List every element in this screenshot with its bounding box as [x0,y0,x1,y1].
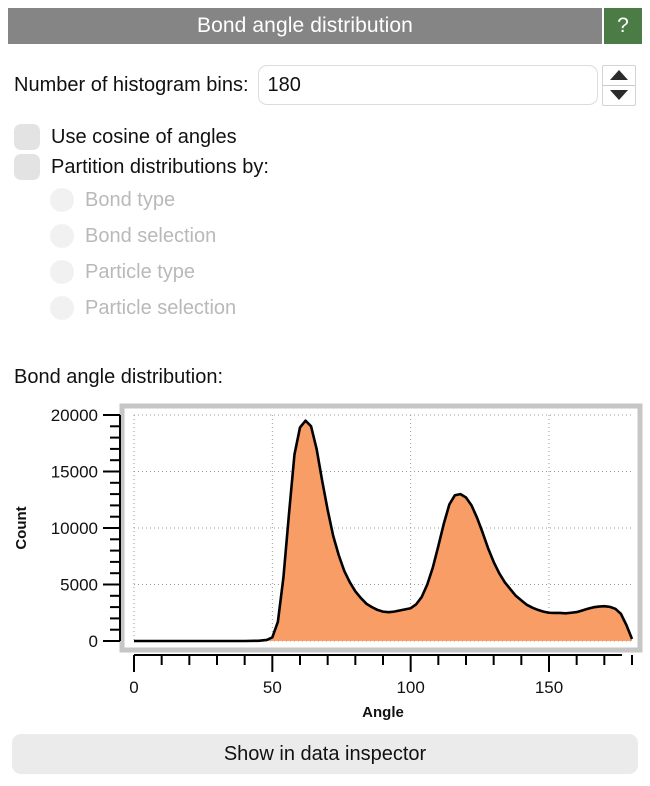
histogram-bins-stepper[interactable] [602,65,636,106]
y-tick-label: 0 [89,632,98,651]
radio-row-particle-type: Particle type [50,254,514,290]
y-tick-label: 15000 [51,463,98,482]
y-axis-label: Count [13,506,30,549]
histogram-bins-row: Number of histogram bins: [14,64,636,106]
checkbox-row-partition[interactable]: Partition distributions by: [14,152,514,182]
radio-bond-selection [50,224,74,248]
stepper-up-button[interactable] [603,66,635,86]
bond-angle-chart-svg: 05000100001500020000Count050100150Angle [0,392,650,722]
checkbox-partition-distributions[interactable] [14,154,40,180]
chart-heading: Bond angle distribution: [14,366,223,389]
x-tick-label: 150 [535,678,563,697]
checkbox-use-cosine[interactable] [14,124,40,150]
page-title: Bond angle distribution [197,14,413,38]
help-button[interactable]: ? [602,8,642,44]
stepper-down-button[interactable] [603,85,635,105]
radio-label-bond-selection: Bond selection [85,225,216,248]
question-mark-icon: ? [617,14,629,38]
x-axis-label: Angle [362,704,404,721]
radio-particle-type [50,260,74,284]
titlebar-main: Bond angle distribution [8,8,602,44]
y-tick-label: 5000 [60,576,98,595]
radio-row-bond-selection: Bond selection [50,218,514,254]
options-group: Use cosine of angles Partition distribut… [14,122,514,326]
bond-angle-distribution-panel: Bond angle distribution ? Number of hist… [0,0,650,786]
histogram-bins-input[interactable] [258,65,598,105]
y-tick-label: 20000 [51,406,98,425]
x-tick-label: 50 [263,678,282,697]
chart-line [134,421,632,641]
radio-bond-type [50,188,74,212]
x-tick-label: 0 [129,678,138,697]
x-tick-label: 100 [396,678,424,697]
triangle-up-icon [610,70,628,80]
partition-radio-group: Bond type Bond selection Particle type P… [50,182,514,326]
chart-area-fill [134,421,632,641]
radio-row-particle-selection: Particle selection [50,290,514,326]
radio-label-bond-type: Bond type [85,189,175,212]
histogram-bins-label: Number of histogram bins: [14,74,249,97]
radio-label-particle-type: Particle type [85,261,195,284]
triangle-down-icon [610,90,628,100]
bond-angle-chart: 05000100001500020000Count050100150Angle [0,392,650,722]
radio-label-particle-selection: Particle selection [85,297,236,320]
radio-particle-selection [50,296,74,320]
window-titlebar: Bond angle distribution ? [8,8,642,44]
show-in-data-inspector-button[interactable]: Show in data inspector [12,734,638,774]
radio-row-bond-type: Bond type [50,182,514,218]
checkbox-label-partition: Partition distributions by: [51,156,269,179]
checkbox-row-use-cosine[interactable]: Use cosine of angles [14,122,514,152]
checkbox-label-use-cosine: Use cosine of angles [51,126,237,149]
y-tick-label: 10000 [51,519,98,538]
